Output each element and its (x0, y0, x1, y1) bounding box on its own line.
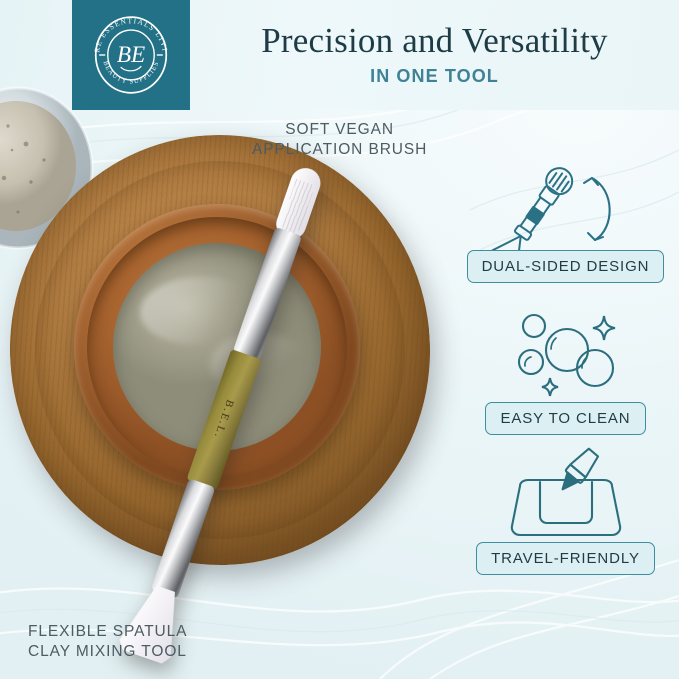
callout-brush: SOFT VEGAN APPLICATION BRUSH (252, 120, 427, 161)
cosmetic-bag-brush-icon (496, 442, 636, 542)
svg-text:BE: BE (117, 42, 145, 68)
feature-dual-sided-label[interactable]: DUAL-SIDED DESIGN (467, 250, 665, 283)
handle-engraving: B.E.L. (212, 398, 237, 441)
product-photo: B.E.L. (0, 100, 460, 640)
callout-spatula: FLEXIBLE SPATULA CLAY MIXING TOOL (28, 622, 187, 663)
bubbles-sparkle-icon (501, 302, 631, 402)
page-subtitle: IN ONE TOOL (370, 66, 499, 87)
callout-brush-line2: APPLICATION BRUSH (252, 140, 427, 160)
product-infographic: BARE ESSENTIALS LIVING BEAUTY SUPPLIES B… (0, 0, 679, 679)
feature-easy-to-clean-label[interactable]: EASY TO CLEAN (485, 402, 645, 435)
dual-ended-brush-rotate-icon (491, 150, 641, 250)
callout-brush-line1: SOFT VEGAN (252, 120, 427, 140)
feature-dual-sided: DUAL-SIDED DESIGN (452, 150, 679, 283)
feature-list: DUAL-SIDED DESIGN (452, 150, 679, 610)
callout-spatula-line2: CLAY MIXING TOOL (28, 642, 187, 662)
header-text-block: Precision and Versatility IN ONE TOOL (190, 0, 679, 110)
page-title: Precision and Versatility (261, 23, 608, 60)
feature-travel-friendly: TRAVEL-FRIENDLY (452, 442, 679, 575)
feature-easy-to-clean: EASY TO CLEAN (452, 302, 679, 435)
feature-travel-friendly-label[interactable]: TRAVEL-FRIENDLY (476, 542, 655, 575)
callout-spatula-line1: FLEXIBLE SPATULA (28, 622, 187, 642)
